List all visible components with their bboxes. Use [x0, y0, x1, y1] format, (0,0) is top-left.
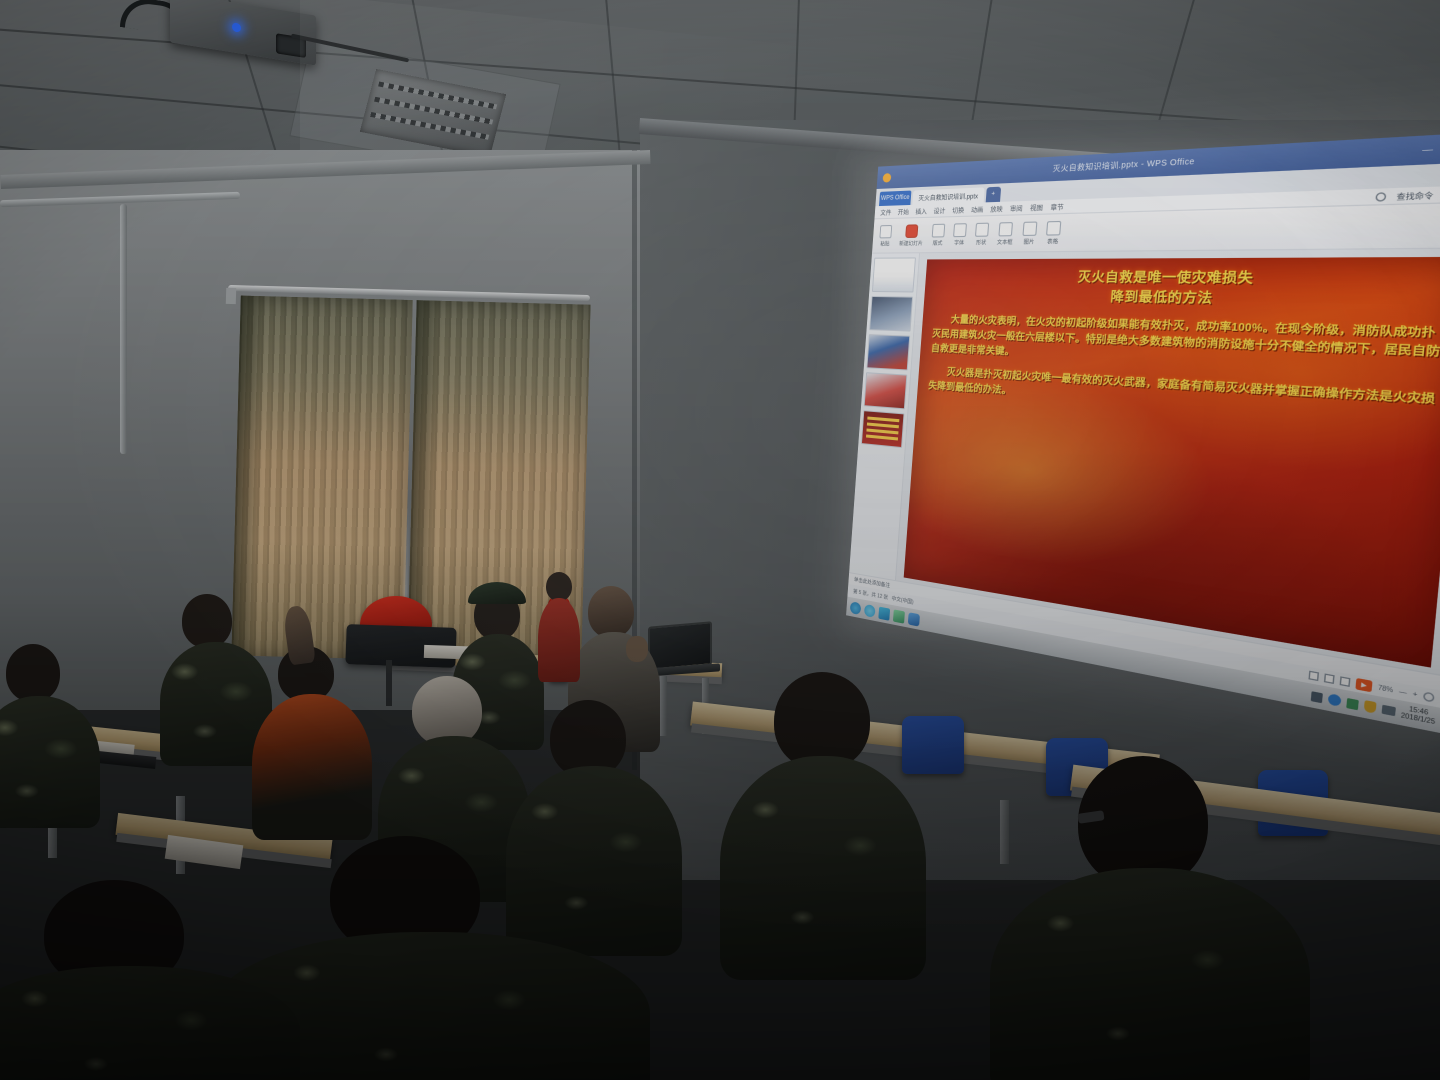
ribbon-paste-button[interactable]: 粘贴 — [879, 224, 892, 247]
assistant-head — [546, 572, 572, 601]
menu-item-insert[interactable]: 插入 — [915, 206, 927, 216]
paste-icon — [879, 224, 892, 237]
start-slideshow-icon[interactable]: ▶ — [1355, 678, 1372, 692]
audience-body — [990, 868, 1310, 1080]
ribbon-font-label: 字体 — [954, 239, 964, 247]
ribbon-font-button[interactable]: 字体 — [952, 223, 967, 247]
menu-item-file[interactable]: 文件 — [880, 207, 892, 217]
fit-window-icon[interactable] — [1423, 691, 1435, 702]
ribbon-new-slide-button[interactable]: 新建幻灯片 — [899, 224, 924, 247]
layout-icon — [932, 223, 946, 237]
audience-body — [0, 966, 300, 1080]
curtain-rod-bracket — [226, 288, 236, 304]
ribbon-picture-button[interactable]: 图片 — [1022, 221, 1038, 245]
reading-view-icon[interactable] — [1340, 676, 1351, 687]
new-tab-button[interactable]: + — [986, 187, 1001, 203]
menu-item-section[interactable]: 章节 — [1050, 201, 1064, 211]
shield-icon[interactable] — [1363, 700, 1376, 714]
shape-icon — [975, 222, 989, 236]
menu-item-review[interactable]: 审阅 — [1010, 203, 1023, 213]
language-label[interactable]: 中文(中国) — [891, 595, 913, 606]
ribbon-table-label: 表格 — [1047, 237, 1059, 245]
ribbon-table-button[interactable]: 表格 — [1045, 220, 1061, 245]
network-icon[interactable] — [1310, 691, 1322, 703]
zoom-out-button[interactable]: — — [1399, 688, 1407, 697]
speaker-hand — [626, 636, 648, 662]
assistant-in-red — [534, 572, 582, 682]
wps-icon[interactable] — [893, 609, 905, 623]
slide-sorter-icon[interactable] — [1324, 673, 1335, 684]
thumbnail-text-lines — [866, 416, 899, 441]
normal-view-icon[interactable] — [1309, 671, 1320, 681]
ribbon-layout-button[interactable]: 版式 — [931, 223, 945, 246]
slide-thumbnail[interactable] — [869, 296, 913, 332]
minimize-button[interactable]: — — [1419, 143, 1437, 156]
wps-logo: WPS Office — [879, 191, 911, 207]
audience-member — [0, 644, 100, 824]
slide-thumbnail[interactable] — [872, 257, 916, 292]
start-icon[interactable] — [850, 601, 861, 615]
ribbon-shape-button[interactable]: 形状 — [974, 222, 989, 246]
slide-thumbnail[interactable] — [866, 334, 910, 370]
speaker-head — [588, 586, 634, 638]
menu-item-transition[interactable]: 切换 — [952, 205, 965, 215]
audience-body — [0, 696, 100, 828]
sound-icon[interactable] — [1346, 697, 1359, 709]
slide-thumbnail-selected[interactable] — [861, 410, 904, 448]
audience-head — [6, 644, 60, 702]
folder-icon[interactable] — [878, 606, 890, 620]
audience-member-orange — [252, 646, 372, 836]
table-icon — [1046, 220, 1061, 235]
audience-body — [252, 694, 372, 840]
ribbon-new-slide-label: 新建幻灯片 — [899, 239, 923, 247]
zoom-in-button[interactable]: + — [1412, 690, 1417, 699]
ribbon-picture-label: 图片 — [1023, 237, 1034, 245]
battery-icon[interactable] — [1381, 705, 1395, 717]
menu-item-slideshow[interactable]: 放映 — [990, 203, 1003, 213]
audience-body — [720, 756, 926, 980]
ribbon-textbox-button[interactable]: 文本框 — [997, 221, 1014, 245]
search-label[interactable]: 查找命令 — [1396, 189, 1434, 202]
menu-item-view[interactable]: 视图 — [1030, 202, 1044, 212]
slide-title-line2: 降到最低的方法 — [934, 286, 1440, 313]
search-icon[interactable] — [1375, 192, 1386, 201]
ribbon-textbox-label: 文本框 — [997, 238, 1013, 246]
wps-title-cloud-icon — [883, 173, 892, 183]
audience-head — [182, 594, 232, 648]
security-icon[interactable] — [908, 612, 920, 626]
menu-item-design[interactable]: 设计 — [933, 205, 945, 215]
audience-member-front-left — [0, 880, 290, 1080]
font-icon — [953, 223, 967, 237]
projector-power-led — [232, 22, 241, 32]
new-slide-icon — [905, 224, 918, 238]
audience-member — [726, 672, 916, 972]
audience-member-front-right — [1006, 756, 1286, 1080]
menu-item-animation[interactable]: 动画 — [971, 204, 984, 214]
classroom-scene: 灭火自救知识培训.pptx - WPS Office — ▢ ✕ WPS Off… — [0, 0, 1440, 1080]
instructor-cap — [468, 582, 526, 604]
ribbon-paste-label: 粘贴 — [880, 240, 890, 247]
ribbon-shape-label: 形状 — [976, 238, 987, 246]
input-method-icon[interactable] — [1327, 693, 1341, 707]
slide-thumbnail[interactable] — [864, 372, 908, 409]
taskbar-clock[interactable]: 15:46 2018/1/25 — [1400, 705, 1436, 726]
picture-icon — [1023, 221, 1038, 236]
assistant-body — [538, 598, 580, 682]
wall-conduit-vertical — [120, 204, 127, 454]
browser-icon[interactable] — [864, 603, 876, 617]
ribbon-layout-label: 版式 — [932, 239, 942, 246]
zoom-level-label: 78% — [1378, 684, 1394, 694]
textbox-icon — [998, 222, 1013, 236]
menu-item-home[interactable]: 开始 — [897, 207, 909, 217]
